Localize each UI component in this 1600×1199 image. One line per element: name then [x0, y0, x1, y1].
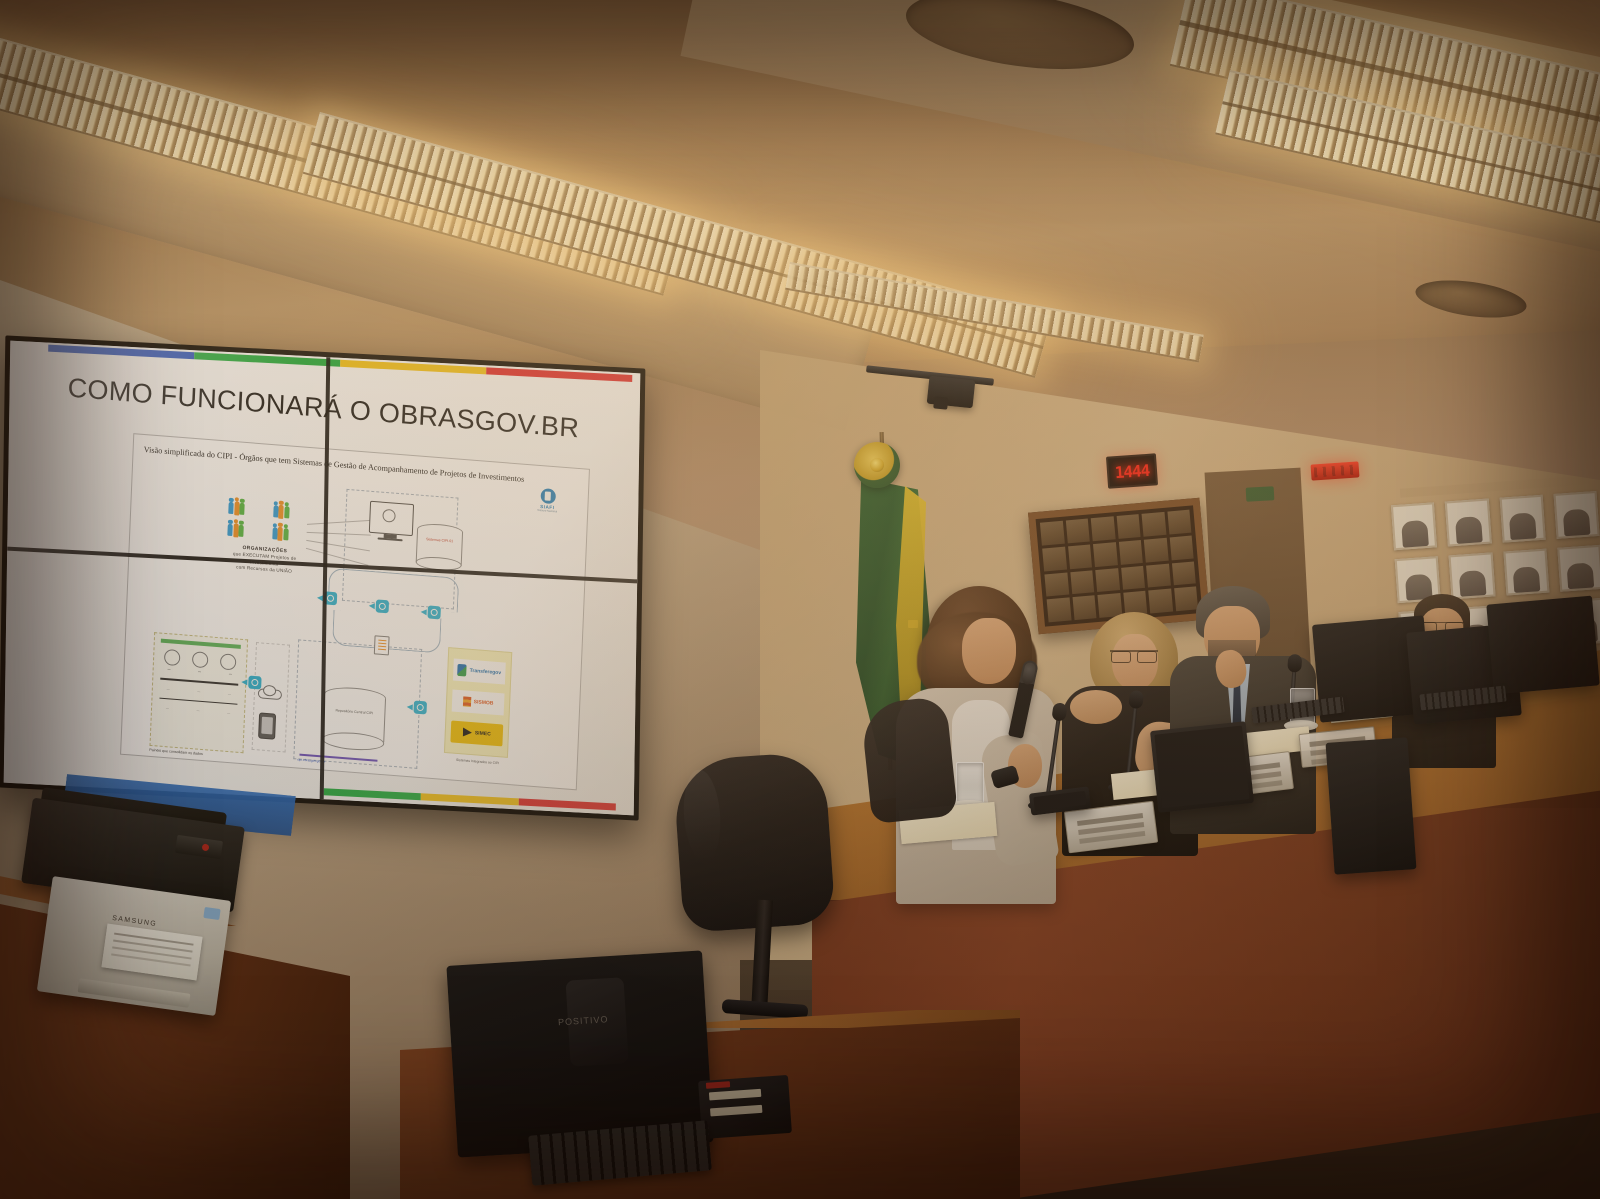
sismob-logo: SISMOB: [452, 689, 505, 715]
people-icon: [227, 500, 261, 520]
transferegov-logo: Transferegov: [453, 659, 506, 685]
document-icon: [374, 635, 390, 655]
workstation-icon: [369, 501, 412, 540]
portrait-frame: [1449, 552, 1495, 600]
portrait-frame: [1503, 548, 1549, 596]
siafi-sub: Tesouro Nacional: [534, 509, 560, 514]
database-icon: Sistemas CIPI.01: [415, 522, 463, 572]
flag-finial-ornament: [854, 442, 900, 488]
api-icon: [376, 599, 390, 613]
people-icon: [226, 522, 260, 542]
siafi-node: SIAFI Tesouro Nacional: [534, 488, 561, 514]
portrait-frame: [1557, 545, 1600, 593]
clock-time: 1444: [1114, 460, 1150, 481]
integrated-systems-box: Transferegov SISMOB SIMEC: [444, 647, 512, 758]
chair[interactable]: [860, 696, 958, 824]
eyeglasses-icon: [1110, 650, 1158, 661]
portrait-frame: [1445, 499, 1491, 547]
diagram-caption: Visão simplificada do CIPI - Órgãos que …: [143, 445, 582, 488]
api-icon: [413, 700, 427, 714]
central-database-icon: Repositório Central CIPI: [322, 685, 387, 752]
staff-monitor: [1486, 596, 1599, 695]
portrait-frame: [1499, 495, 1545, 543]
portrait-frame: [1553, 491, 1599, 539]
printer-badge-icon: [203, 907, 220, 920]
slide-diagram: Visão simplificada do CIPI - Órgãos que …: [120, 433, 590, 790]
dashboard-panel-icon: ••••••••• ——— ———: [149, 632, 248, 753]
people-icon: [272, 503, 306, 523]
mobile-icon: [258, 712, 276, 739]
room-photo-scene: COMO FUNCIONARÁ O OBRASGOV.BR Visão simp…: [0, 0, 1600, 1199]
staff-monitor: [1325, 737, 1416, 874]
simec-logo: SIMEC: [450, 720, 503, 746]
led-clock: 1444: [1106, 453, 1158, 488]
laptop[interactable]: [1150, 721, 1254, 813]
integrated-systems-caption: Sistemas Integrados ao CIPI: [434, 756, 522, 767]
video-wall[interactable]: COMO FUNCIONARÁ O OBRASGOV.BR Visão simp…: [0, 335, 645, 820]
organizations-sub-2: com Recursos da UNIÃO: [236, 565, 292, 574]
emergency-exit-light: [1246, 486, 1275, 501]
projector-head: [927, 376, 976, 409]
panelist2-shoulder: [1070, 690, 1122, 724]
people-icon: [271, 525, 305, 545]
portrait-frame: [1391, 502, 1437, 550]
empty-chair[interactable]: [672, 751, 836, 933]
speaker-face: [962, 618, 1016, 684]
api-icon: [248, 676, 262, 690]
flag-strap: [908, 620, 918, 628]
exit-sign: [1311, 461, 1360, 480]
